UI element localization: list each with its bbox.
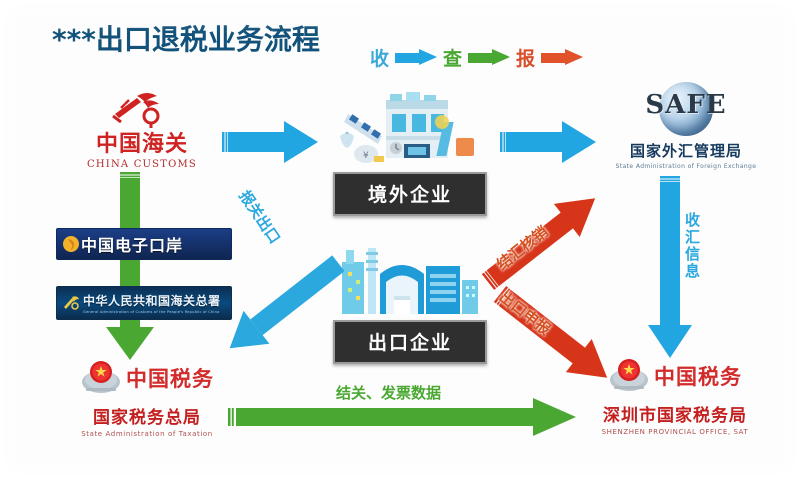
gacc-label-en: General Administration of Customs of the… (83, 310, 220, 314)
arrow-label-fx-receipt-info: 收汇信息 (682, 212, 703, 280)
arrow-clearance-invoice-data (228, 398, 578, 438)
factory-illustration-icon (330, 240, 490, 318)
sat-logo-text: 中国税务 (126, 363, 214, 393)
szsat-name-en: SHENZHEN PROVINCIAL OFFICE, SAT (580, 428, 770, 436)
szsat-logo-text: 中国税务 (654, 361, 742, 391)
legend: 收 查 报 (370, 42, 583, 72)
tax-emblem-icon (80, 358, 122, 398)
gacc-label: 中华人民共和国海关总署 (83, 292, 221, 309)
sat-name-en: State Administration of Taxation (52, 430, 242, 438)
arrow-customs-to-sat (106, 172, 154, 362)
safe-wordmark: SAFE (596, 90, 776, 120)
arrow-label-clearance-invoice-data: 结关、发票数据 (336, 382, 441, 403)
legend-char-bao: 报 (516, 44, 535, 71)
legend-char-cha: 查 (443, 44, 462, 71)
eport-label: 中国电子口岸 (81, 232, 183, 256)
safe-name-en: State Administration of Foreign Exchange (596, 163, 776, 170)
safe-globe-icon: SAFE (596, 82, 776, 138)
diagram-canvas: ***出口退税业务流程 收 查 报 (0, 0, 800, 479)
svg-text:¥: ¥ (363, 151, 369, 161)
china-customs-name-en: CHINA CUSTOMS (62, 159, 222, 170)
legend-char-shou: 收 (370, 44, 389, 71)
szsat-name: 深圳市国家税务局 (580, 401, 770, 426)
overseas-bank-illustration-icon: ¥ (330, 92, 490, 170)
banner-gacc[interactable]: 中华人民共和国海关总署 General Administration of Cu… (56, 286, 232, 320)
safe-name: 国家外汇管理局 (596, 140, 776, 161)
export-enterprise-label: 出口企业 (333, 320, 487, 364)
arrow-overseas-to-safe (500, 120, 596, 166)
gacc-badge-icon (62, 294, 80, 312)
legend-arrow-green-icon (468, 49, 510, 66)
overseas-enterprise-label: 境外企业 (333, 172, 487, 216)
china-customs-name: 中国海关 (62, 132, 222, 157)
legend-arrow-blue-icon (395, 49, 437, 66)
legend-arrow-red-icon (541, 49, 583, 66)
node-china-customs: 中国海关 CHINA CUSTOMS (62, 88, 222, 170)
page-title: ***出口退税业务流程 (52, 18, 320, 58)
eport-badge-icon (62, 235, 80, 253)
arrow-customs-to-overseas (222, 120, 318, 166)
sat-name: 国家税务总局 (52, 403, 242, 428)
node-export-enterprise: 出口企业 (325, 240, 495, 364)
node-overseas-enterprise: ¥ 境外企业 (325, 92, 495, 216)
node-state-administration-taxation: 中国税务 国家税务总局 State Administration of Taxa… (52, 356, 242, 438)
china-customs-emblem-icon (107, 88, 177, 130)
node-safe: SAFE 国家外汇管理局 State Administration of For… (596, 82, 776, 170)
